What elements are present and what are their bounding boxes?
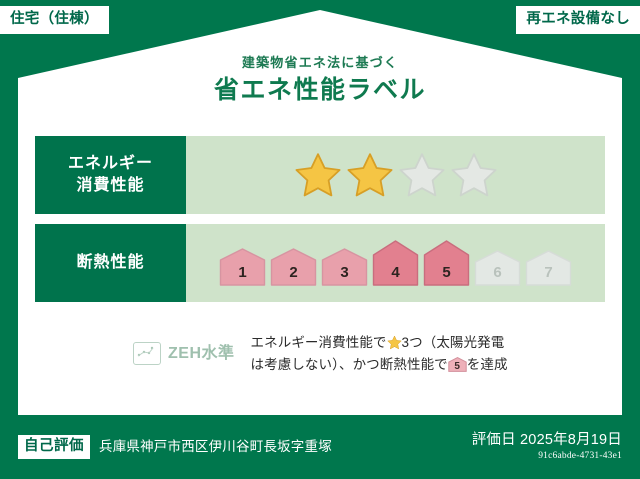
insulation-grade-3: 3	[321, 248, 368, 286]
row-insulation-label-line1: 断熱性能	[76, 252, 144, 274]
footer-left: 自己評価 兵庫県神戸市西区伊川谷町長坂字重塚	[18, 435, 332, 459]
star-filled-icon	[346, 151, 394, 199]
evaluation-id: 91c6abde-4731-43e1	[472, 451, 622, 462]
star-filled-icon	[294, 151, 342, 199]
inline-star-icon	[387, 335, 402, 350]
row-insulation: 断熱性能 1234567	[35, 224, 605, 302]
star-empty-icon	[450, 151, 498, 199]
row-energy-consumption-label: エネルギー 消費性能	[35, 136, 186, 214]
zeh-desc-text-2a: は考慮しない）、かつ断熱性能で	[251, 357, 448, 372]
property-address: 兵庫県神戸市西区伊川谷町長坂字重塚	[99, 440, 332, 454]
zeh-note: ZEH水準 エネルギー消費性能で3つ（太陽光発電 は考慮しない）、かつ断熱性能で…	[35, 332, 610, 377]
label-subtitle: 建築物省エネ法に基づく	[0, 56, 640, 69]
label-title: 省エネ性能ラベル	[0, 78, 640, 103]
insulation-grade-1: 1	[219, 248, 266, 286]
building-type-tag: 住宅（住棟）	[0, 6, 109, 34]
insulation-grade-6: 6	[474, 250, 521, 286]
metric-rows: エネルギー 消費性能 断熱性能 1234567	[35, 136, 605, 312]
self-evaluation-badge: 自己評価	[18, 435, 90, 459]
star-rating	[294, 151, 498, 199]
row-energy-consumption-label-line1: エネルギー	[68, 153, 153, 175]
insulation-grade-1-value: 1	[219, 265, 266, 280]
insulation-grade-7: 7	[525, 250, 572, 286]
footer-right: 評価日 2025年8月19日 91c6abde-4731-43e1	[472, 432, 622, 462]
insulation-grade-scale: 1234567	[219, 240, 572, 286]
zeh-chart-icon	[133, 342, 161, 365]
insulation-grade-3-value: 3	[321, 265, 368, 280]
insulation-grade-7-value: 7	[525, 265, 572, 280]
inline-grade-badge: 5	[448, 357, 467, 372]
label-title-block: 建築物省エネ法に基づく 省エネ性能ラベル	[0, 56, 640, 103]
zeh-mark-label: ZEH水準	[168, 346, 235, 362]
renewable-energy-tag: 再エネ設備なし	[516, 6, 640, 34]
row-energy-consumption-value	[186, 136, 605, 214]
inline-grade-value: 5	[448, 362, 467, 372]
insulation-grade-2: 2	[270, 248, 317, 286]
zeh-mark: ZEH水準	[133, 332, 235, 365]
insulation-grade-6-value: 6	[474, 265, 521, 280]
row-energy-consumption-label-line2: 消費性能	[76, 175, 144, 197]
insulation-grade-4: 4	[372, 240, 419, 286]
zeh-description-line2: は考慮しない）、かつ断熱性能で5を達成	[251, 354, 610, 376]
star-empty-icon	[398, 151, 446, 199]
row-insulation-value: 1234567	[186, 224, 605, 302]
zeh-desc-text-1b: 3つ（太陽光発電	[402, 335, 505, 350]
energy-performance-label-card: 住宅（住棟） 再エネ設備なし 建築物省エネ法に基づく 省エネ性能ラベル エネルギ…	[0, 0, 640, 479]
zeh-desc-text-2b: を達成	[467, 357, 508, 372]
evaluation-date: 評価日 2025年8月19日	[472, 432, 622, 449]
insulation-grade-4-value: 4	[372, 265, 419, 280]
insulation-grade-2-value: 2	[270, 265, 317, 280]
zeh-description: エネルギー消費性能で3つ（太陽光発電 は考慮しない）、かつ断熱性能で5を達成	[251, 332, 610, 377]
row-energy-consumption: エネルギー 消費性能	[35, 136, 605, 214]
row-insulation-label: 断熱性能	[35, 224, 186, 302]
insulation-grade-5-value: 5	[423, 265, 470, 280]
insulation-grade-5: 5	[423, 240, 470, 286]
label-footer: 自己評価 兵庫県神戸市西区伊川谷町長坂字重塚 評価日 2025年8月19日 91…	[0, 415, 640, 479]
zeh-desc-text-1a: エネルギー消費性能で	[251, 335, 387, 350]
zeh-description-line1: エネルギー消費性能で3つ（太陽光発電	[251, 332, 610, 354]
